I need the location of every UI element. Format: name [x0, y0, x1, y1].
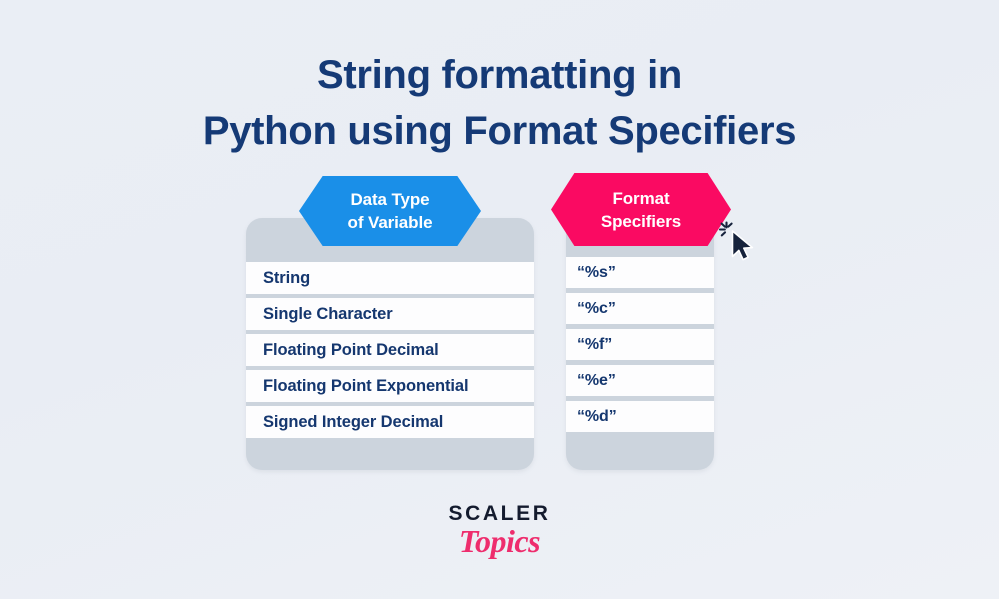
- format-specifier-header-line-2: Specifiers: [601, 210, 681, 233]
- table-row: “%c”: [566, 293, 714, 324]
- data-type-label: Floating Point Exponential: [263, 377, 468, 396]
- table-row: Floating Point Decimal: [246, 334, 534, 366]
- format-specifier-label: “%c”: [577, 300, 616, 318]
- format-specifier-header-line-1: Format: [612, 187, 669, 210]
- scaler-topics-logo: SCALER Topics: [0, 502, 999, 558]
- format-specifier-label: “%e”: [577, 372, 616, 390]
- data-type-header-line-2: of Variable: [348, 211, 433, 234]
- table-row: Signed Integer Decimal: [246, 406, 534, 438]
- table-row: “%e”: [566, 365, 714, 396]
- data-type-label: Signed Integer Decimal: [263, 413, 443, 432]
- format-specifier-label: “%f”: [577, 336, 612, 354]
- table-row: “%s”: [566, 257, 714, 288]
- infographic-canvas: String formatting in Python using Format…: [0, 0, 999, 599]
- format-specifier-row-list: “%s” “%c” “%f” “%e” “%d”: [566, 257, 714, 432]
- data-type-row-list: String Single Character Floating Point D…: [246, 262, 534, 438]
- format-specifier-label: “%s”: [577, 264, 616, 282]
- table-row: String: [246, 262, 534, 294]
- table-row: “%f”: [566, 329, 714, 360]
- data-type-header-hexagon: Data Type of Variable: [299, 176, 481, 246]
- format-specifier-header-hexagon: Format Specifiers: [551, 173, 731, 246]
- data-type-label: Single Character: [263, 305, 393, 324]
- logo-product-text: Topics: [0, 525, 999, 558]
- mouse-pointer-click-icon: [718, 219, 764, 265]
- data-type-label: Floating Point Decimal: [263, 341, 439, 360]
- table-row: Single Character: [246, 298, 534, 330]
- data-type-label: String: [263, 269, 310, 288]
- format-specifier-label: “%d”: [577, 408, 617, 426]
- table-row: Floating Point Exponential: [246, 370, 534, 402]
- table-row: “%d”: [566, 401, 714, 432]
- data-type-header-line-1: Data Type: [350, 188, 429, 211]
